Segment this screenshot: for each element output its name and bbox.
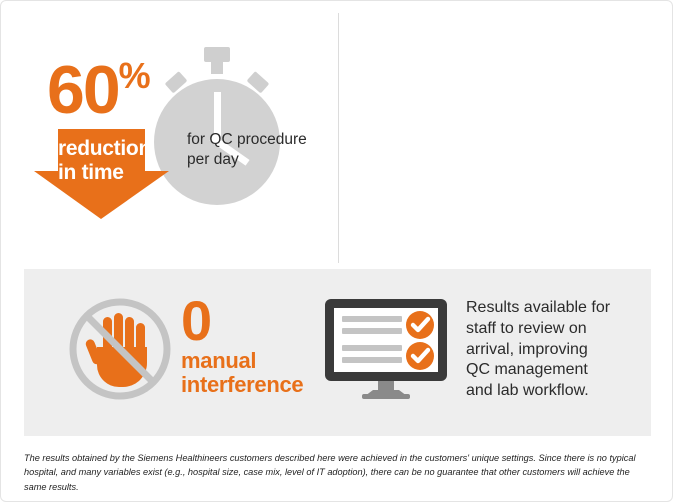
caption-results-line3: arrival, improving [466,340,641,361]
caption-results-line5: and lab workflow. [466,381,641,402]
caption-qc-procedure-line1: for QC procedure [187,130,327,150]
caption-qc-procedure-line2: per day [187,150,327,170]
footnote-disclaimer: The results obtained by the Siemens Heal… [24,451,654,494]
stat-60-percent-sign: % [119,55,150,96]
caption-results-line4: QC management [466,360,641,381]
caption-qc-procedure: for QC procedure per day [187,130,327,170]
arrow-time-label: reduction in time [58,137,188,184]
infographic-card: 60% reduction in time for QC procedure p… [0,0,673,502]
stat-60-number: 60 [47,52,119,128]
stat-60-percent: 60% [47,56,150,124]
caption-results-line2: staff to review on [466,319,641,340]
panel-zero-manual-interference: 0 manual interference [24,269,651,436]
caption-results-line1: Results available for [466,298,641,319]
panel-reduced-labor: 85% reduced labor + $ [339,1,673,266]
caption-results-available: Results available for staff to review on… [466,298,641,402]
stat-zero-block: 0 manual interference [181,295,341,398]
stat-zero-label-line2: interference [181,373,341,398]
arrow-time-label-line2: in time [58,161,188,185]
panel-reduction-in-time: 60% reduction in time for QC procedure p… [1,1,338,266]
no-hand-icon [61,295,179,403]
stat-zero-label-line1: manual [181,349,341,374]
stat-zero-label: manual interference [181,349,341,398]
stat-zero-number: 0 [181,295,341,347]
arrow-time-label-line1: reduction [58,137,188,161]
monitor-checklist-icon [325,299,453,399]
